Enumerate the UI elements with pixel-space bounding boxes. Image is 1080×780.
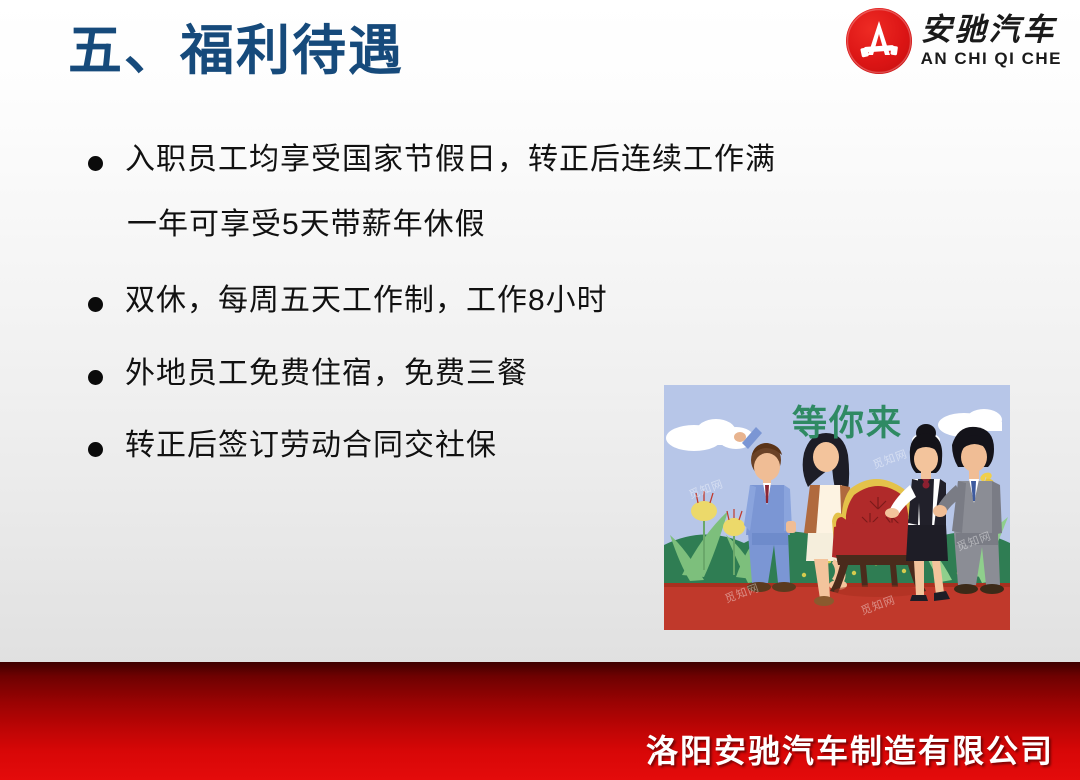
- brand-name-cn: 安驰汽车: [921, 15, 1062, 46]
- brand-text-block: 安驰汽车 AN CHI QI CHE: [921, 15, 1062, 67]
- list-item-label: 一年可享受5天带薪年休假: [125, 207, 486, 244]
- list-item-label: 外地员工免费住宿，免费三餐: [125, 356, 528, 393]
- page-title: 五、福利待遇: [68, 22, 404, 81]
- list-item: 外地员工免费住宿，免费三餐: [88, 356, 668, 393]
- bullet-dot-icon: [88, 370, 103, 385]
- anchi-circle-a-logo-icon: [846, 8, 912, 74]
- list-item-label: 入职员工均享受国家节假日，转正后连续工作满: [125, 142, 776, 179]
- benefits-list: 入职员工均享受国家节假日，转正后连续工作满 一年可享受5天带薪年休假 双休，每周…: [88, 142, 668, 501]
- list-item-label: 转正后签订劳动合同交社保: [125, 428, 497, 465]
- list-item-continuation: 一年可享受5天带薪年休假: [88, 207, 668, 244]
- list-item-label: 双休，每周五天工作制，工作8小时: [125, 283, 608, 320]
- brand-logo: 安驰汽车 AN CHI QI CHE: [846, 8, 1062, 74]
- footer-bar: 洛阳安驰汽车制造有限公司: [0, 662, 1080, 780]
- list-item: 入职员工均享受国家节假日，转正后连续工作满: [88, 142, 668, 179]
- recruiting-illustration: 等你来 觅知网 觅知网 觅知网 觅知网 觅知网: [664, 385, 1010, 630]
- slide-canvas: 五、福利待遇 安驰汽车 AN CHI QI CHE 入职员工均享受国家节假日，转…: [0, 0, 1080, 780]
- list-item: 双休，每周五天工作制，工作8小时: [88, 283, 668, 320]
- illustration-caption: 等你来: [792, 395, 903, 446]
- brand-name-en: AN CHI QI CHE: [921, 50, 1062, 67]
- bullet-dot-icon: [88, 297, 103, 312]
- footer-company-name: 洛阳安驰汽车制造有限公司: [646, 726, 1054, 772]
- list-item: 转正后签订劳动合同交社保: [88, 428, 668, 465]
- bullet-dot-icon: [88, 156, 103, 171]
- bullet-dot-icon: [88, 442, 103, 457]
